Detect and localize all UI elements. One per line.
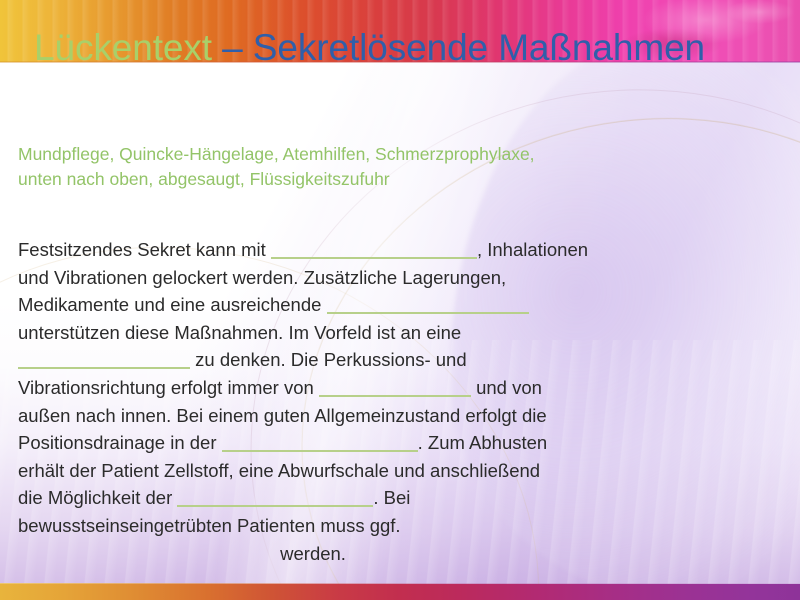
cloze-blank [319, 376, 471, 397]
cloze-line: Festsitzendes Sekret kann mit , Inhalati… [18, 236, 774, 264]
cloze-line: Medikamente und eine ausreichende [18, 291, 774, 319]
cloze-line: und Vibrationen gelockert werden. Zusätz… [18, 264, 774, 292]
cloze-text: Medikamente und eine ausreichende [18, 294, 327, 315]
cloze-line: Vibrationsrichtung erfolgt immer von und… [18, 374, 774, 402]
cloze-line: die Möglichkeit der . Bei [18, 484, 774, 512]
slide-title: Lückentext – Sekretlösende Maßnahmen [34, 22, 734, 74]
cloze-blank [271, 238, 477, 259]
cloze-text: und von [471, 377, 542, 398]
cloze-blank [18, 348, 190, 369]
cloze-text: Festsitzendes Sekret kann mit [18, 239, 271, 260]
cloze-text: bewusstseinseingetrübten Patienten muss … [18, 515, 401, 536]
cloze-body-text: Festsitzendes Sekret kann mit , Inhalati… [18, 236, 774, 567]
word-bank-line-1: Mundpflege, Quincke-Hängelage, Atemhilfe… [18, 142, 770, 167]
cloze-text: . Bei [373, 487, 410, 508]
word-bank-line-2: unten nach oben, abgesaugt, Flüssigkeits… [18, 167, 770, 192]
cloze-line: bewusstseinseingetrübten Patienten muss … [18, 512, 774, 540]
slide-canvas: Lückentext – Sekretlösende Maßnahmen Mun… [0, 0, 800, 600]
cloze-text: erhält der Patient Zellstoff, eine Abwur… [18, 460, 540, 481]
cloze-text: und Vibrationen gelockert werden. Zusätz… [18, 267, 506, 288]
cloze-text: unterstützen diese Maßnahmen. Im Vorfeld… [18, 322, 461, 343]
word-bank: Mundpflege, Quincke-Hängelage, Atemhilfe… [18, 142, 770, 192]
cloze-text: Vibrationsrichtung erfolgt immer von [18, 377, 319, 398]
cloze-text: außen nach innen. Bei einem guten Allgem… [18, 405, 547, 426]
cloze-line: Positionsdrainage in der . Zum Abhusten [18, 429, 774, 457]
cloze-line: werden. [18, 540, 774, 568]
cloze-blank [177, 486, 373, 507]
cloze-blank [222, 431, 418, 452]
cloze-text: . Zum Abhusten [418, 432, 548, 453]
bottom-gradient-bar [0, 584, 800, 600]
cloze-line: unterstützen diese Maßnahmen. Im Vorfeld… [18, 319, 774, 347]
slide-title-lead: Lückentext [34, 27, 212, 68]
cloze-blank [327, 293, 529, 314]
cloze-text: , Inhalationen [477, 239, 588, 260]
cloze-text: die Möglichkeit der [18, 487, 177, 508]
cloze-line: außen nach innen. Bei einem guten Allgem… [18, 402, 774, 430]
cloze-line: zu denken. Die Perkussions- und [18, 346, 774, 374]
slide-title-rest: – Sekretlösende Maßnahmen [212, 27, 705, 68]
cloze-text: werden. [18, 543, 346, 564]
cloze-line: erhält der Patient Zellstoff, eine Abwur… [18, 457, 774, 485]
cloze-text: zu denken. Die Perkussions- und [190, 349, 467, 370]
cloze-text: Positionsdrainage in der [18, 432, 222, 453]
